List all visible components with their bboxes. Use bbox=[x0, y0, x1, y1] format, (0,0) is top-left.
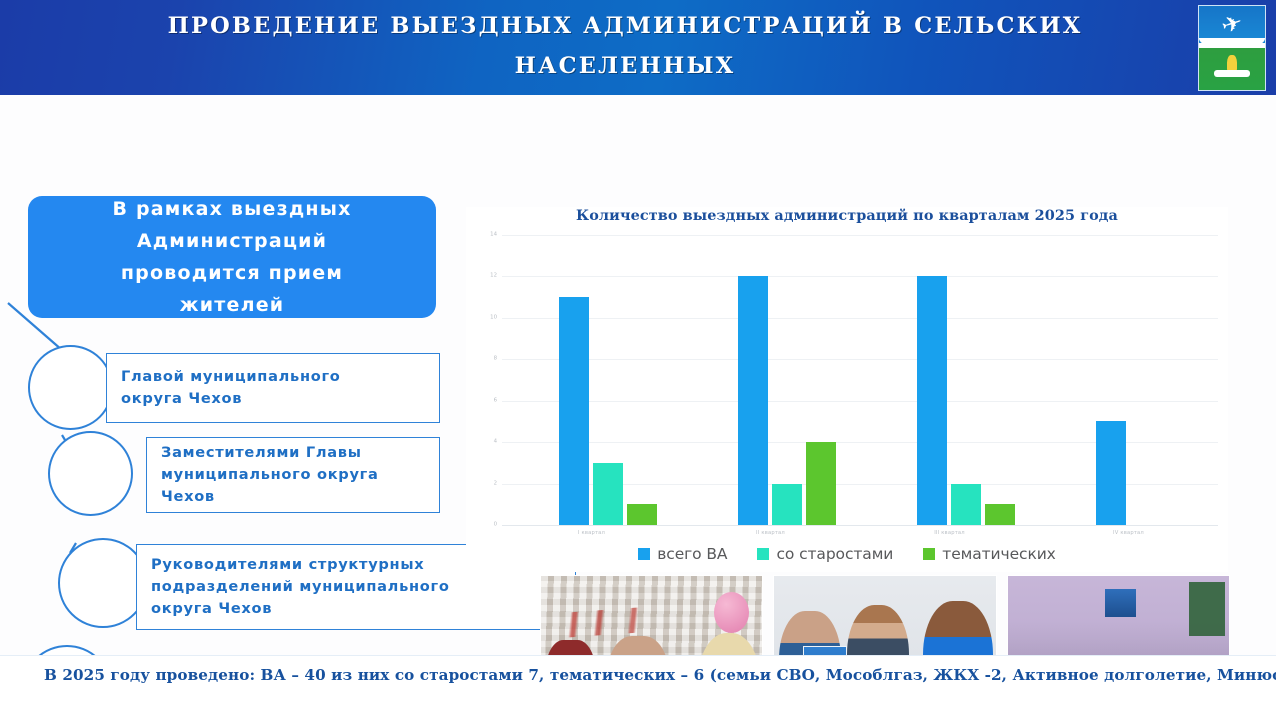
footer-summary: В 2025 году проведено: ВА – 40 из них со… bbox=[44, 666, 1244, 684]
y-axis-tick: 6 bbox=[494, 398, 497, 403]
legend-label: тематических bbox=[942, 545, 1055, 563]
x-axis-tick: III квартал bbox=[860, 530, 1039, 536]
bird-icon bbox=[1211, 14, 1253, 36]
chart-plot-area: 02468101214I кварталII кварталIII кварта… bbox=[502, 235, 1218, 525]
legend-label: со старостами bbox=[776, 545, 893, 563]
callout-box: В рамках выездных Администраций проводит… bbox=[28, 196, 436, 318]
legend-item[interactable]: тематических bbox=[923, 545, 1055, 563]
legend-swatch bbox=[757, 548, 769, 560]
chart-bar bbox=[593, 463, 623, 525]
callout-text: В рамках выездных Администраций проводит… bbox=[112, 193, 351, 321]
bullet-circle bbox=[28, 345, 113, 430]
x-axis-tick: IV квартал bbox=[1039, 530, 1218, 536]
chart-title: Количество выездных администраций по ква… bbox=[466, 207, 1228, 224]
chart-group: III квартал bbox=[860, 235, 1039, 525]
y-axis-tick: 0 bbox=[494, 522, 497, 527]
page-title: ПРОВЕДЕНИЕ ВЫЕЗДНЫХ АДМИНИСТРАЦИЙ В СЕЛЬ… bbox=[70, 6, 1180, 95]
bar-chart: Количество выездных администраций по ква… bbox=[466, 207, 1228, 572]
chart-group: I квартал bbox=[502, 235, 681, 525]
chart-bar-groups: I кварталII кварталIII кварталIV квартал bbox=[502, 235, 1218, 525]
chart-group: IV квартал bbox=[1039, 235, 1218, 525]
legend-item[interactable]: со старостами bbox=[757, 545, 893, 563]
list-item[interactable]: Руководителями структурных подразделений… bbox=[58, 538, 515, 633]
chart-bar bbox=[951, 484, 981, 525]
chart-bar bbox=[772, 484, 802, 525]
slide-body: В рамках выездных Администраций проводит… bbox=[0, 95, 1276, 655]
list-item[interactable]: Заместителями Главы муниципального округ… bbox=[48, 431, 440, 516]
chart-bar bbox=[627, 504, 657, 525]
y-axis-tick: 4 bbox=[494, 439, 497, 444]
chart-bar bbox=[917, 276, 947, 525]
bullet-circle bbox=[58, 538, 148, 628]
chart-bar bbox=[738, 276, 768, 525]
chart-bar bbox=[1096, 421, 1126, 525]
list-item-panel: Главой муниципального округа Чехов bbox=[106, 353, 440, 423]
chart-bar bbox=[985, 504, 1015, 525]
legend-label: всего ВА bbox=[657, 545, 727, 563]
x-axis-tick: I квартал bbox=[502, 530, 681, 536]
list-item-panel: Заместителями Главы муниципального округ… bbox=[146, 437, 440, 513]
chart-group: II квартал bbox=[681, 235, 860, 525]
y-axis-tick: 8 bbox=[494, 357, 497, 362]
bullet-circle bbox=[48, 431, 133, 516]
slide-footer bbox=[0, 655, 1276, 719]
legend-swatch bbox=[923, 548, 935, 560]
chart-bar bbox=[806, 442, 836, 525]
chart-bar bbox=[559, 297, 589, 525]
x-axis-tick: II квартал bbox=[681, 530, 860, 536]
y-axis-tick: 10 bbox=[490, 315, 497, 320]
chart-legend: всего ВАсо старостамитематических bbox=[466, 545, 1228, 563]
y-axis-tick: 14 bbox=[490, 232, 497, 237]
gridline bbox=[502, 525, 1218, 526]
slide-header: ПРОВЕДЕНИЕ ВЫЕЗДНЫХ АДМИНИСТРАЦИЙ В СЕЛЬ… bbox=[0, 0, 1276, 95]
list-item-label: Заместителями Главы муниципального округ… bbox=[147, 442, 387, 508]
y-axis-tick: 12 bbox=[490, 274, 497, 279]
list-item[interactable]: Главой муниципального округа Чехов bbox=[28, 345, 440, 430]
list-item-label: Главой муниципального округа Чехов bbox=[107, 366, 349, 410]
footer-accent-line bbox=[6, 652, 40, 708]
legend-swatch bbox=[638, 548, 650, 560]
list-item-label: Руководителями структурных подразделений… bbox=[137, 554, 458, 620]
y-axis-tick: 2 bbox=[494, 481, 497, 486]
legend-item[interactable]: всего ВА bbox=[638, 545, 727, 563]
coat-of-arms-icon bbox=[1198, 5, 1266, 91]
